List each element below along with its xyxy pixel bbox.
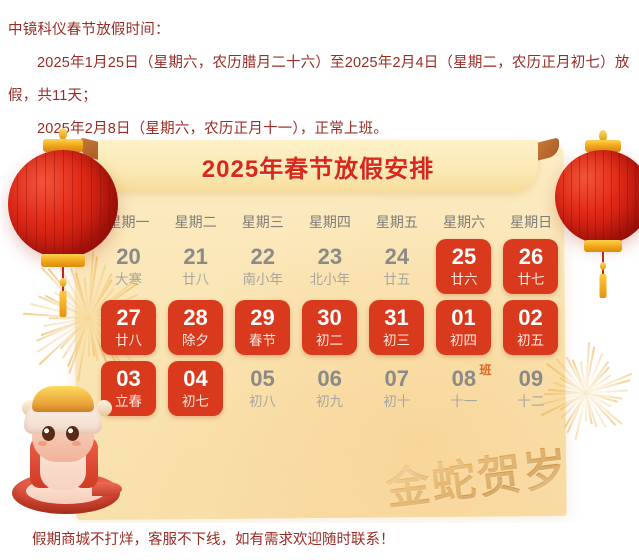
day-number: 08	[452, 366, 476, 391]
lunar-label: 初三	[383, 331, 410, 350]
day-number: 02	[518, 305, 542, 330]
day-number: 28	[183, 305, 207, 330]
lunar-label: 廿八	[182, 270, 209, 289]
day-number: 29	[250, 305, 274, 330]
weekday-wed: 星期三	[229, 212, 296, 232]
lunar-label: 廿八	[115, 331, 142, 350]
day-number: 05	[250, 366, 274, 391]
day-number: 30	[317, 305, 341, 330]
lunar-label: 初八	[249, 392, 276, 411]
calendar-week-row: 03立春04初七05初八06初九07初十08十一班09十二	[95, 358, 565, 419]
lunar-label: 初五	[517, 331, 544, 350]
calendar-day-holiday[interactable]: 29春节	[235, 300, 290, 355]
calendar-day[interactable]: 22南小年	[229, 236, 296, 297]
day-number: 01	[451, 305, 475, 330]
lunar-label: 大寒	[115, 270, 142, 289]
day-number: 27	[116, 305, 140, 330]
calendar-day[interactable]: 08十一班	[430, 358, 497, 419]
weekday-header-row: 星期一 星期二 星期三 星期四 星期五 星期六 星期日	[95, 212, 565, 232]
lunar-label: 廿七	[517, 270, 544, 289]
day-number: 25	[452, 244, 476, 269]
day-number: 23	[318, 244, 342, 269]
calendar-day[interactable]: 24廿五	[363, 236, 430, 297]
calendar-day-holiday[interactable]: 30初二	[302, 300, 357, 355]
day-number: 06	[317, 366, 341, 391]
lunar-label: 十一	[450, 392, 477, 411]
weekday-fri: 星期五	[363, 212, 430, 232]
calendar-day-holiday[interactable]: 04初七	[168, 361, 223, 416]
lunar-label: 除夕	[182, 331, 209, 350]
calendar-day-holiday[interactable]: 26廿七	[503, 239, 558, 294]
weekday-thu: 星期四	[296, 212, 363, 232]
lunar-label: 春节	[249, 331, 276, 350]
footer-text: 假期商城不打烊，客服不下线，如有需求欢迎随时联系！	[32, 532, 395, 548]
snake-mascot	[6, 386, 128, 521]
holiday-poster: 2025年春节放假安排 星期一 星期二 星期三 星期四 星期五 星期六 星期日 …	[0, 128, 639, 523]
calendar-day-holiday[interactable]: 28除夕	[168, 300, 223, 355]
day-number: 04	[183, 366, 207, 391]
day-number: 31	[384, 305, 408, 330]
footer-note: 假期商城不打烊，客服不下线，如有需求欢迎随时联系！	[32, 528, 395, 549]
lantern-left	[8, 128, 118, 358]
workday-badge: 班	[479, 364, 491, 376]
day-number: 09	[519, 366, 543, 391]
calendar-week-row: 20大寒21廿八22南小年23北小年24廿五25廿六26廿七	[95, 236, 565, 297]
lunar-label: 十二	[517, 392, 544, 411]
notice-line-1: 2025年1月25日（星期六，农历腊月二十六）至2025年2月4日（星期二，农历…	[8, 47, 631, 113]
calendar-day[interactable]: 23北小年	[296, 236, 363, 297]
weekday-sat: 星期六	[430, 212, 497, 232]
lunar-label: 廿五	[383, 270, 410, 289]
calendar-day-holiday[interactable]: 02初五	[503, 300, 558, 355]
lunar-label: 廿六	[450, 270, 477, 289]
day-number: 21	[183, 244, 207, 269]
lunar-label: 初七	[182, 392, 209, 411]
lunar-label: 北小年	[310, 270, 351, 289]
day-number: 22	[250, 244, 274, 269]
day-number: 07	[384, 366, 408, 391]
calendar-day[interactable]: 06初九	[296, 358, 363, 419]
calendar-day-holiday[interactable]: 25廿六	[436, 239, 491, 294]
lunar-label: 初四	[450, 331, 477, 350]
calendar-day[interactable]: 07初十	[363, 358, 430, 419]
weekday-tue: 星期二	[162, 212, 229, 232]
lunar-label: 初二	[316, 331, 343, 350]
lunar-label: 初九	[316, 392, 343, 411]
calendar-day[interactable]: 09十二	[497, 358, 564, 419]
calendar-day[interactable]: 05初八	[229, 358, 296, 419]
day-number: 24	[385, 244, 409, 269]
lantern-right	[555, 130, 639, 350]
lunar-label: 南小年	[242, 270, 283, 289]
day-number: 20	[116, 244, 140, 269]
banner-ribbon: 2025年春节放假安排	[98, 140, 538, 192]
notice-heading: 中镜科仪春节放假时间：	[8, 14, 631, 47]
calendar-day-holiday[interactable]: 01初四	[436, 300, 491, 355]
day-number: 26	[519, 244, 543, 269]
calendar-day[interactable]: 21廿八	[162, 236, 229, 297]
lunar-label: 初十	[383, 392, 410, 411]
calendar-grid: 星期一 星期二 星期三 星期四 星期五 星期六 星期日 20大寒21廿八22南小…	[95, 212, 565, 419]
holiday-notice: 中镜科仪春节放假时间： 2025年1月25日（星期六，农历腊月二十六）至2025…	[0, 0, 639, 146]
calendar-week-row: 27廿八28除夕29春节30初二31初三01初四02初五	[95, 297, 565, 358]
banner-title: 2025年春节放假安排	[98, 140, 538, 192]
calendar-day-holiday[interactable]: 31初三	[369, 300, 424, 355]
